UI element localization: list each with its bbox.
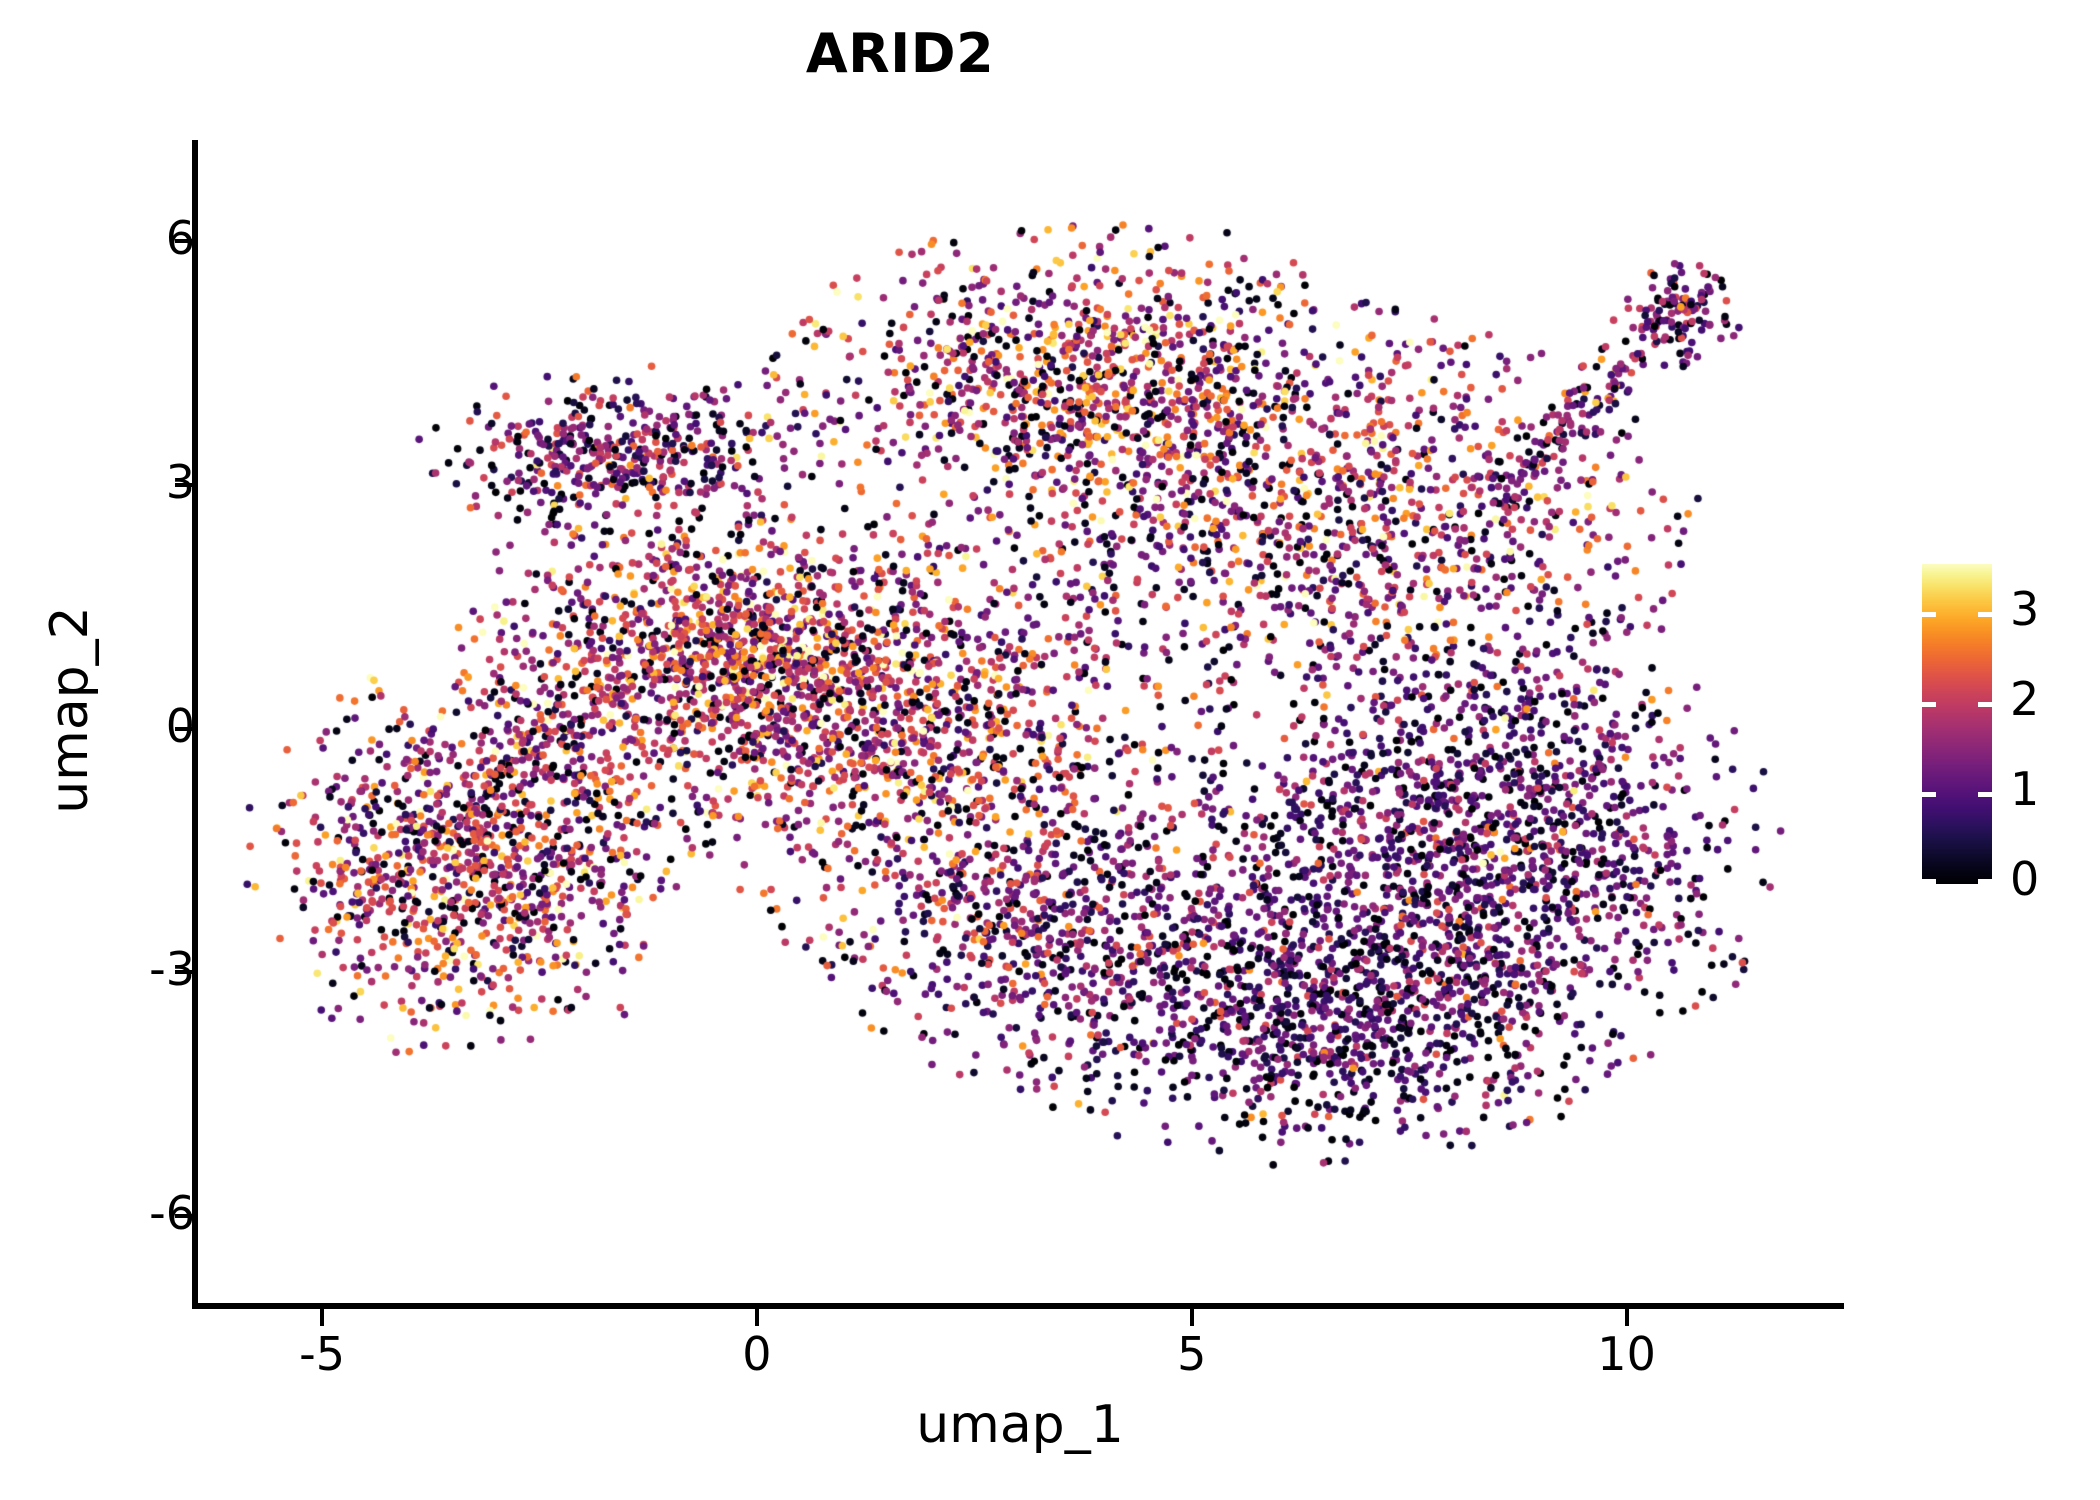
- x-tick-mark: [1625, 1309, 1629, 1326]
- colorbar-tick-mark: [1978, 792, 1992, 797]
- colorbar-tick-mark: [1922, 702, 1936, 707]
- page-title: ARID2: [0, 22, 1800, 85]
- x-tick-label: 5: [1102, 1327, 1282, 1381]
- colorbar-tick-mark: [1978, 612, 1992, 617]
- y-tick-label: 6: [15, 211, 195, 265]
- colorbar-tick-label: 2: [2010, 676, 2039, 722]
- colorbar-tick-label: 1: [2010, 766, 2039, 812]
- x-axis-spine: [192, 1303, 1844, 1309]
- colorbar-tick-mark: [1922, 792, 1936, 797]
- colorbar: [1922, 564, 1992, 884]
- y-axis-label: umap_2: [40, 360, 100, 1060]
- colorbar-tick-mark: [1922, 612, 1936, 617]
- colorbar-tick-label: 3: [2010, 586, 2039, 632]
- colorbar-tick-mark: [1978, 879, 1992, 884]
- x-tick-mark: [320, 1309, 324, 1326]
- colorbar-tick-label: 0: [2010, 856, 2039, 902]
- colorbar-tick-mark: [1922, 879, 1936, 884]
- x-tick-label: -5: [232, 1327, 412, 1381]
- x-axis-label: umap_1: [196, 1395, 1844, 1455]
- y-tick-label: -6: [15, 1186, 195, 1240]
- x-tick-mark: [755, 1309, 759, 1326]
- x-tick-label: 10: [1537, 1327, 1717, 1381]
- colorbar-tick-mark: [1978, 702, 1992, 707]
- x-tick-mark: [1190, 1309, 1194, 1326]
- umap-figure: ARID2 -50510 630-3-6 umap_1 umap_2 3210: [0, 0, 2100, 1500]
- x-tick-label: 0: [667, 1327, 847, 1381]
- scatter-plot-canvas: [196, 140, 1844, 1305]
